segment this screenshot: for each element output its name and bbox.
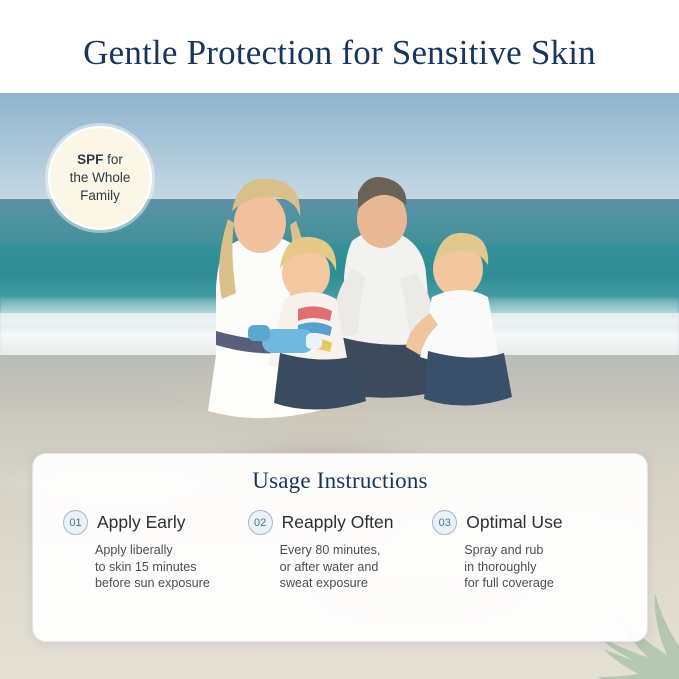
usage-steps-list: 01 Apply Early Apply liberally to skin 1… <box>33 510 647 592</box>
usage-step-03-header: 03 Optimal Use <box>432 510 601 535</box>
usage-step-02-number: 02 <box>248 510 273 535</box>
family-on-beach-photo: SPF for the Whole Family Usage Instructi… <box>0 93 679 679</box>
poster-page: Gentle Protection for Sensitive Skin <box>0 0 679 679</box>
family-group-illustration <box>120 123 540 443</box>
usage-step-03-body-line-2: in thoroughly <box>464 559 601 576</box>
usage-step-02-body-line-3: sweat exposure <box>280 575 417 592</box>
usage-step-01-header: 01 Apply Early <box>63 510 232 535</box>
usage-step-02: 02 Reapply Often Every 80 minutes, or af… <box>248 510 433 592</box>
usage-step-02-header: 02 Reapply Often <box>248 510 417 535</box>
usage-step-03-body-line-1: Spray and rub <box>464 542 601 559</box>
usage-step-01: 01 Apply Early Apply liberally to skin 1… <box>63 510 248 592</box>
usage-step-02-body-line-2: or after water and <box>280 559 417 576</box>
spf-badge: SPF for the Whole Family <box>48 126 152 230</box>
usage-step-03: 03 Optimal Use Spray and rub in thorough… <box>432 510 617 592</box>
usage-step-03-title: Optimal Use <box>466 512 562 533</box>
spf-badge-line1-bold: SPF <box>77 152 103 167</box>
usage-step-01-number: 01 <box>63 510 88 535</box>
usage-step-01-body-line-3: before sun exposure <box>95 575 232 592</box>
usage-step-01-body-line-2: to skin 15 minutes <box>95 559 232 576</box>
usage-step-02-title: Reapply Often <box>282 512 394 533</box>
spf-badge-line1-rest: for <box>103 152 123 167</box>
usage-step-02-body-line-1: Every 80 minutes, <box>280 542 417 559</box>
usage-step-02-body: Every 80 minutes, or after water and swe… <box>280 542 417 592</box>
spf-badge-line2: the Whole <box>70 170 131 185</box>
usage-step-03-body-line-3: for full coverage <box>464 575 601 592</box>
usage-step-01-body: Apply liberally to skin 15 minutes befor… <box>95 542 232 592</box>
spf-badge-text: SPF for the Whole Family <box>58 151 142 205</box>
usage-step-03-number: 03 <box>432 510 457 535</box>
page-title: Gentle Protection for Sensitive Skin <box>0 30 679 76</box>
usage-step-01-body-line-1: Apply liberally <box>95 542 232 559</box>
usage-instructions-card: Usage Instructions 01 Apply Early Apply … <box>32 453 648 642</box>
usage-step-01-title: Apply Early <box>97 512 186 533</box>
usage-step-03-body: Spray and rub in thoroughly for full cov… <box>464 542 601 592</box>
usage-instructions-title: Usage Instructions <box>33 468 647 494</box>
spf-badge-line3: Family <box>80 188 120 203</box>
